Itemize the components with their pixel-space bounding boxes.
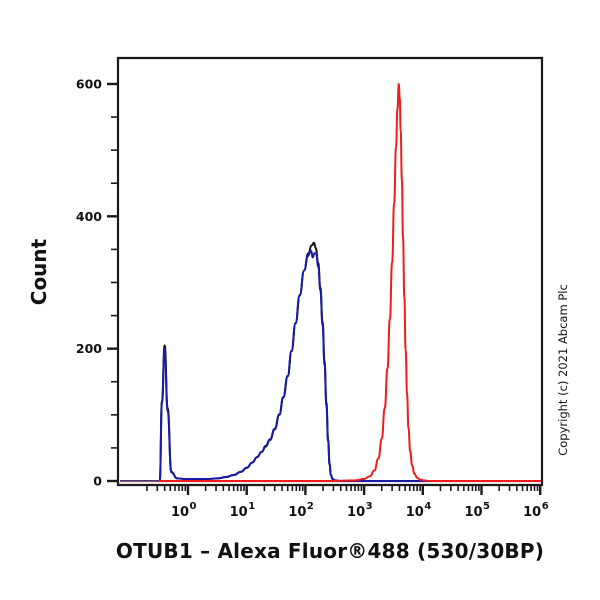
series-otub1-stained-red	[160, 84, 540, 481]
y-tick-label-400: 400	[76, 209, 102, 224]
x-tick-exponent-5: 5	[483, 501, 490, 512]
x-tick-base-6: 10	[523, 505, 541, 520]
flow-cytometry-figure: 0200400600100101102103104105106 Count OT…	[0, 0, 600, 600]
x-tick-exponent-1: 1	[248, 501, 255, 512]
x-tick-exponent-2: 2	[307, 501, 314, 512]
histogram-plot: 0200400600100101102103104105106 Count OT…	[0, 0, 600, 600]
x-tick-label-6: 106	[523, 501, 549, 520]
axes-group	[107, 58, 542, 495]
x-tick-base-2: 10	[288, 505, 306, 520]
x-tick-label-0: 100	[171, 501, 197, 520]
series-unstained-control-black	[160, 243, 540, 481]
x-tick-label-2: 102	[288, 501, 314, 520]
plot-frame	[118, 58, 542, 485]
x-tick-label-5: 105	[464, 501, 490, 520]
x-axis-title: OTUB1 – Alexa Fluor®488 (530/30BP)	[116, 539, 544, 563]
x-tick-base-5: 10	[464, 505, 482, 520]
x-tick-exponent-0: 0	[190, 501, 197, 512]
axis-tick-labels: 0200400600100101102103104105106	[76, 76, 549, 520]
x-tick-exponent-4: 4	[424, 501, 431, 512]
x-tick-base-0: 10	[171, 505, 189, 520]
copyright-label: Copyright (c) 2021 Abcam Plc	[556, 284, 570, 456]
x-tick-base-1: 10	[230, 505, 248, 520]
series-isotype-control-blue	[160, 251, 540, 481]
x-tick-base-3: 10	[347, 505, 365, 520]
x-tick-label-1: 101	[230, 501, 256, 520]
curves-group	[120, 84, 540, 482]
x-tick-base-4: 10	[406, 505, 424, 520]
x-tick-exponent-3: 3	[366, 501, 373, 512]
x-tick-exponent-6: 6	[542, 501, 549, 512]
x-tick-label-3: 103	[347, 501, 373, 520]
y-axis-title: Count	[27, 238, 51, 305]
x-tick-label-4: 104	[406, 501, 432, 520]
y-tick-label-0: 0	[93, 474, 102, 489]
y-tick-label-200: 200	[76, 341, 102, 356]
y-tick-label-600: 600	[76, 76, 102, 91]
